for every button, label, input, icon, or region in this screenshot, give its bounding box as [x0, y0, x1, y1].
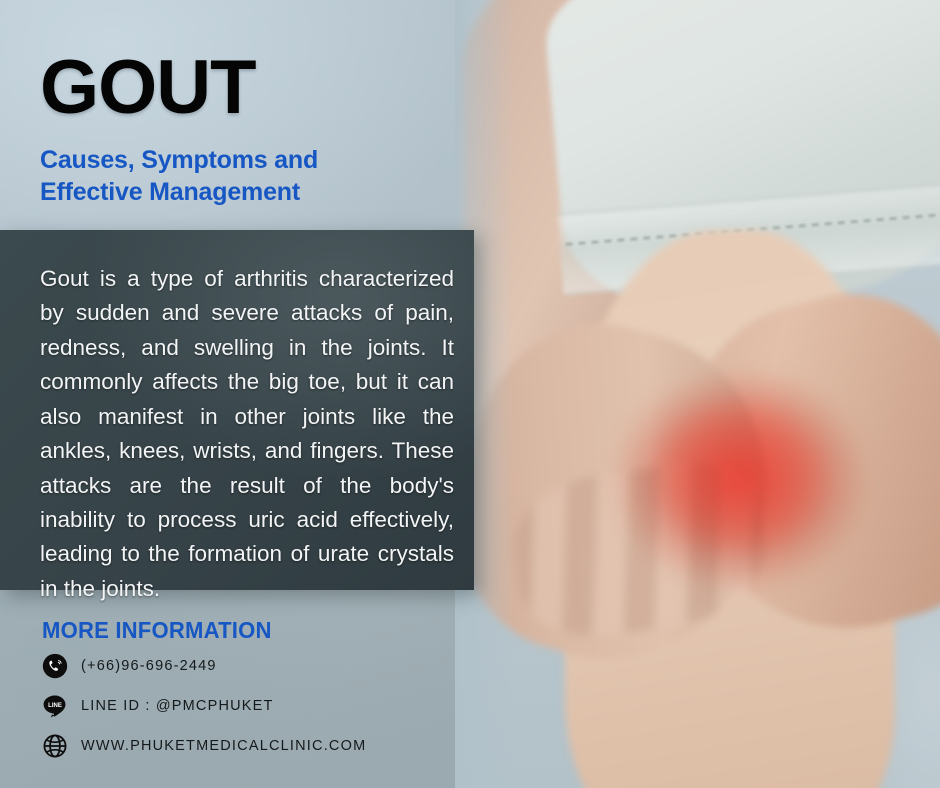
contact-heading: MORE INFORMATION	[42, 617, 272, 644]
gout-infographic-poster: GOUT Causes, Symptoms and Effective Mana…	[0, 0, 940, 788]
phone-number: (+66)96-696-2449	[81, 658, 217, 674]
contact-row-phone[interactable]: (+66)96-696-2449	[42, 653, 366, 679]
contact-row-website[interactable]: WWW.PHUKETMEDICALCLINIC.COM	[42, 733, 366, 759]
description-text: Gout is a type of arthritis characterize…	[40, 262, 454, 606]
description-panel: Gout is a type of arthritis characterize…	[0, 230, 474, 590]
globe-icon	[42, 733, 68, 759]
contact-row-line[interactable]: LINE LINE ID : @PMCPHUKET	[42, 693, 366, 719]
svg-text:LINE: LINE	[48, 703, 62, 709]
subtitle-line-2: Effective Management	[40, 176, 440, 208]
photo-left-fade	[455, 0, 940, 788]
phone-icon	[42, 653, 68, 679]
knee-pain-photo	[455, 0, 940, 788]
line-app-icon: LINE	[42, 693, 68, 719]
subtitle-line-1: Causes, Symptoms and	[40, 144, 440, 176]
website-url: WWW.PHUKETMEDICALCLINIC.COM	[81, 738, 366, 754]
poster-subtitle: Causes, Symptoms and Effective Managemen…	[40, 144, 440, 208]
line-id: LINE ID : @PMCPHUKET	[81, 698, 274, 714]
poster-title: GOUT	[40, 50, 256, 126]
contact-list: (+66)96-696-2449 LINE LINE ID : @PMCPHUK…	[42, 653, 366, 759]
